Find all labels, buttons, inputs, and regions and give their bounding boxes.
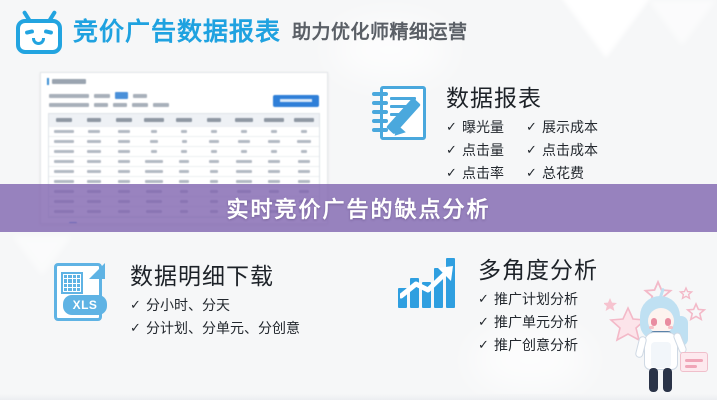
banner-title: 实时竞价广告的缺点分析 <box>226 192 490 224</box>
list-item: ✓点击量 <box>446 140 504 160</box>
screenshot-export-button <box>273 95 319 107</box>
table-row <box>49 147 319 157</box>
check-icon: ✓ <box>446 165 462 181</box>
mascot-bag-icon <box>680 352 708 372</box>
list-item: ✓曝光量 <box>446 117 504 137</box>
list-item: ✓分小时、分天 <box>130 295 300 315</box>
header: 竞价广告数据报表 助力优化师精细运营 <box>16 10 468 54</box>
bar-chart-arrow-icon <box>398 256 460 308</box>
check-icon: ✓ <box>478 337 494 353</box>
banner: 实时竞价广告的缺点分析 <box>0 184 717 232</box>
feature-item-list: ✓曝光量 ✓展示成本 ✓点击量 ✓点击成本 ✓点击率 ✓总花费 <box>446 117 598 183</box>
list-item-label: 分计划、分单元、分创意 <box>146 318 300 338</box>
list-item: ✓点击率 <box>446 163 504 183</box>
tv-face-logo-icon <box>16 10 62 54</box>
list-item: ✓推广单元分析 <box>478 312 598 332</box>
page-title: 竞价广告数据报表 <box>73 20 281 45</box>
list-item-label: 点击成本 <box>542 140 598 160</box>
list-item-label: 点击率 <box>462 163 504 183</box>
notepad-pencil-icon <box>370 84 432 142</box>
list-item-label: 推广计划分析 <box>494 289 578 309</box>
anime-mascot-character <box>604 274 714 400</box>
feature-data-report: 数据报表 ✓曝光量 ✓展示成本 ✓点击量 ✓点击成本 ✓点击率 ✓总花费 <box>370 84 598 183</box>
feature-item-list: ✓推广计划分析 ✓推广单元分析 ✓推广创意分析 <box>478 289 598 355</box>
list-item-label: 推广单元分析 <box>494 312 578 332</box>
list-item: ✓分计划、分单元、分创意 <box>130 318 300 338</box>
list-item: ✓展示成本 <box>526 117 598 137</box>
trend-arrow-icon <box>400 264 458 302</box>
check-icon: ✓ <box>526 119 542 135</box>
table-row <box>49 137 319 147</box>
check-icon: ✓ <box>478 291 494 307</box>
feature-data-detail-download: XLS 数据明细下载 ✓分小时、分天 ✓分计划、分单元、分创意 <box>52 262 300 338</box>
list-item: ✓点击成本 <box>526 140 598 160</box>
feature-item-list: ✓分小时、分天 ✓分计划、分单元、分创意 <box>130 295 300 338</box>
table-row <box>49 157 319 167</box>
poster-canvas: 竞价广告数据报表 助力优化师精细运营 <box>0 0 717 400</box>
check-icon: ✓ <box>526 165 542 181</box>
check-icon: ✓ <box>130 297 146 313</box>
feature-title: 多角度分析 <box>478 258 598 282</box>
feature-multi-angle-analysis: 多角度分析 ✓推广计划分析 ✓推广单元分析 ✓推广创意分析 <box>398 256 598 355</box>
bottom-edge <box>0 394 717 400</box>
feature-title: 数据报表 <box>446 86 598 110</box>
list-item: ✓总花费 <box>526 163 598 183</box>
list-item-label: 点击量 <box>462 140 504 160</box>
check-icon: ✓ <box>526 142 542 158</box>
xls-icon-label: XLS <box>63 295 107 315</box>
list-item-label: 分小时、分天 <box>146 295 230 315</box>
list-item-label: 总花费 <box>542 163 584 183</box>
check-icon: ✓ <box>478 314 494 330</box>
list-item-label: 展示成本 <box>542 117 598 137</box>
page-subtitle: 助力优化师精细运营 <box>292 23 468 42</box>
list-item-label: 曝光量 <box>462 117 504 137</box>
table-header-row <box>49 114 319 127</box>
xls-file-icon: XLS <box>52 262 110 324</box>
list-item-label: 推广创意分析 <box>494 335 578 355</box>
background-triangle-decoration <box>560 0 652 58</box>
background-triangle-decoration <box>648 0 716 46</box>
table-row <box>49 167 319 177</box>
list-item: ✓推广计划分析 <box>478 289 598 309</box>
screenshot-panel-title <box>47 78 327 85</box>
check-icon: ✓ <box>446 119 462 135</box>
check-icon: ✓ <box>130 320 146 336</box>
table-row <box>49 127 319 137</box>
feature-title: 数据明细下载 <box>130 264 300 288</box>
check-icon: ✓ <box>446 142 462 158</box>
list-item: ✓推广创意分析 <box>478 335 598 355</box>
